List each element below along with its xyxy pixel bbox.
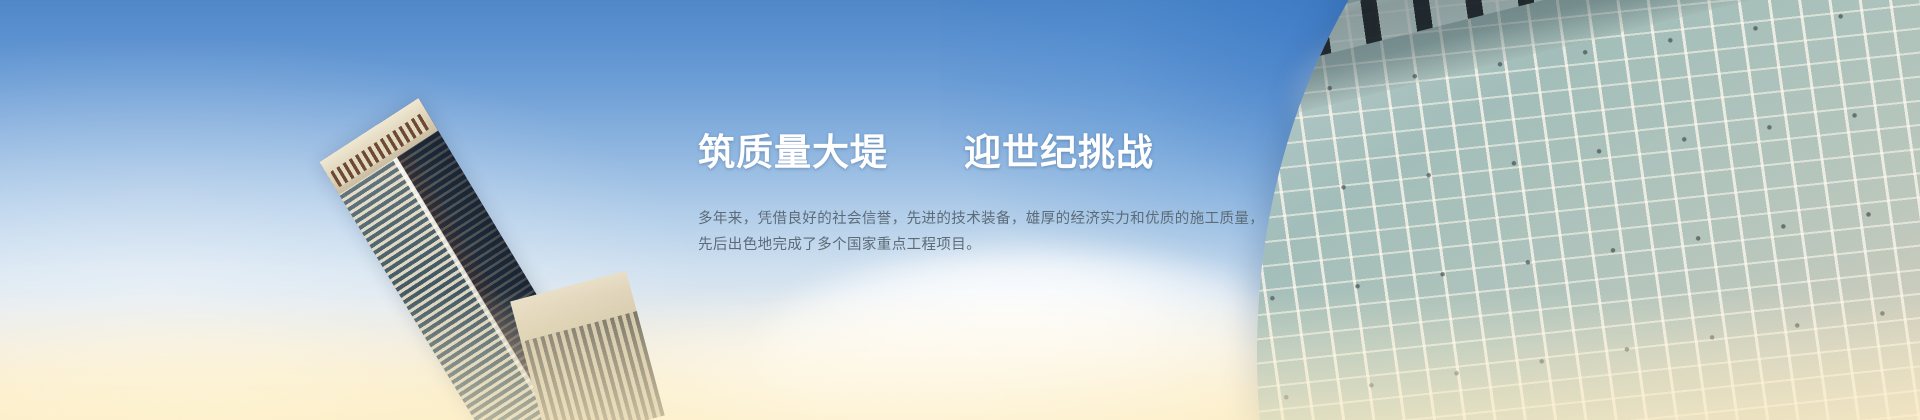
banner-subtitle: 多年来，凭借良好的社会信誉，先进的技术装备，雄厚的经济实力和优质的施工质量， 先…	[698, 206, 1358, 258]
banner-subtitle-line-2: 先后出色地完成了多个国家重点工程项目。	[698, 232, 1358, 258]
banner-headline: 筑质量大堤 迎世纪挑战	[698, 130, 1358, 176]
banner-copy-block: 筑质量大堤 迎世纪挑战 多年来，凭借良好的社会信誉，先进的技术装备，雄厚的经济实…	[698, 130, 1358, 258]
hero-banner: 筑质量大堤 迎世纪挑战 多年来，凭借良好的社会信誉，先进的技术装备，雄厚的经济实…	[0, 0, 1920, 420]
banner-subtitle-line-1: 多年来，凭借良好的社会信誉，先进的技术装备，雄厚的经济实力和优质的施工质量，	[698, 206, 1358, 232]
bottom-warm-haze	[0, 290, 1920, 420]
